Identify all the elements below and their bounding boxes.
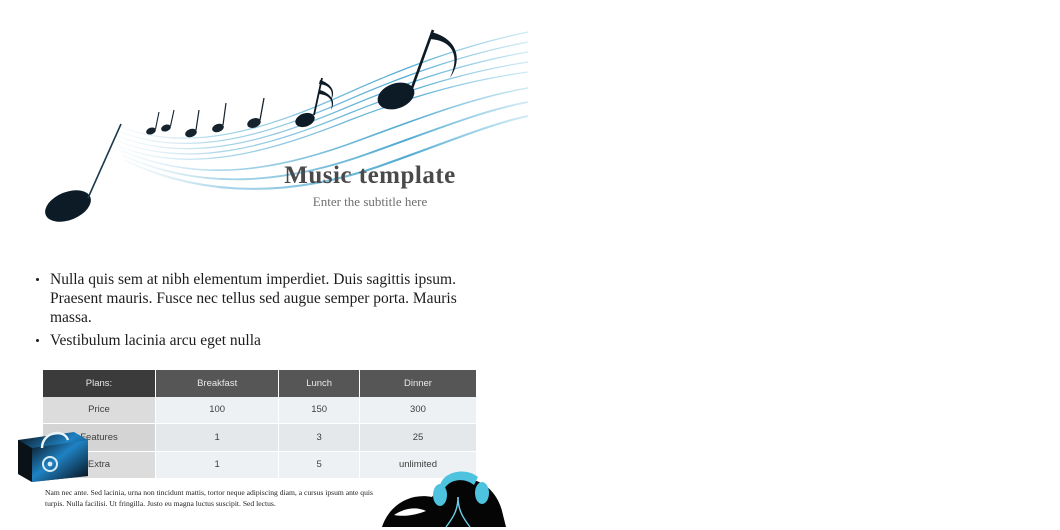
column-header-lunch: Lunch <box>279 370 360 397</box>
music-bag-headphones-icon <box>12 418 92 484</box>
music-staff-artwork: Music template Enter the subtitle here <box>0 0 530 250</box>
column-header-plans: Plans: <box>43 370 156 397</box>
table-cell: 100 <box>156 397 279 424</box>
headphones-listener-silhouette <box>382 455 530 530</box>
page-title: Music template <box>230 162 510 190</box>
left-caption-text: Nam nec ante. Sed lacinia, urna non tinc… <box>45 488 380 509</box>
table-cell: 150 <box>279 397 360 424</box>
table-cell: 25 <box>359 424 476 452</box>
column-header-dinner: Dinner <box>359 370 476 397</box>
table-row: Price 100 150 300 <box>43 397 477 424</box>
table-row: Features 1 3 25 <box>43 424 477 452</box>
page-subtitle: Enter the subtitle here <box>230 194 510 210</box>
left-bullet-list: Nulla quis sem at nibh elementum imperdi… <box>30 270 500 354</box>
slide-music-content: Music lacinia Nam nec ante. Sed lacinia,… <box>530 0 1060 530</box>
table-cell: 1 <box>156 451 279 479</box>
slide-music-template: Music template Enter the subtitle here N… <box>0 0 530 530</box>
table-header-row: Plans: Breakfast Lunch Dinner <box>43 370 477 397</box>
table-cell: 5 <box>279 451 360 479</box>
table-cell: 1 <box>156 424 279 452</box>
list-item: Vestibulum lacinia arcu eget nulla <box>30 331 500 350</box>
table-cell: 300 <box>359 397 476 424</box>
table-cell: 3 <box>279 424 360 452</box>
music-staff-notes-icon <box>0 0 530 250</box>
column-header-breakfast: Breakfast <box>156 370 279 397</box>
list-item: Nulla quis sem at nibh elementum imperdi… <box>30 270 500 327</box>
